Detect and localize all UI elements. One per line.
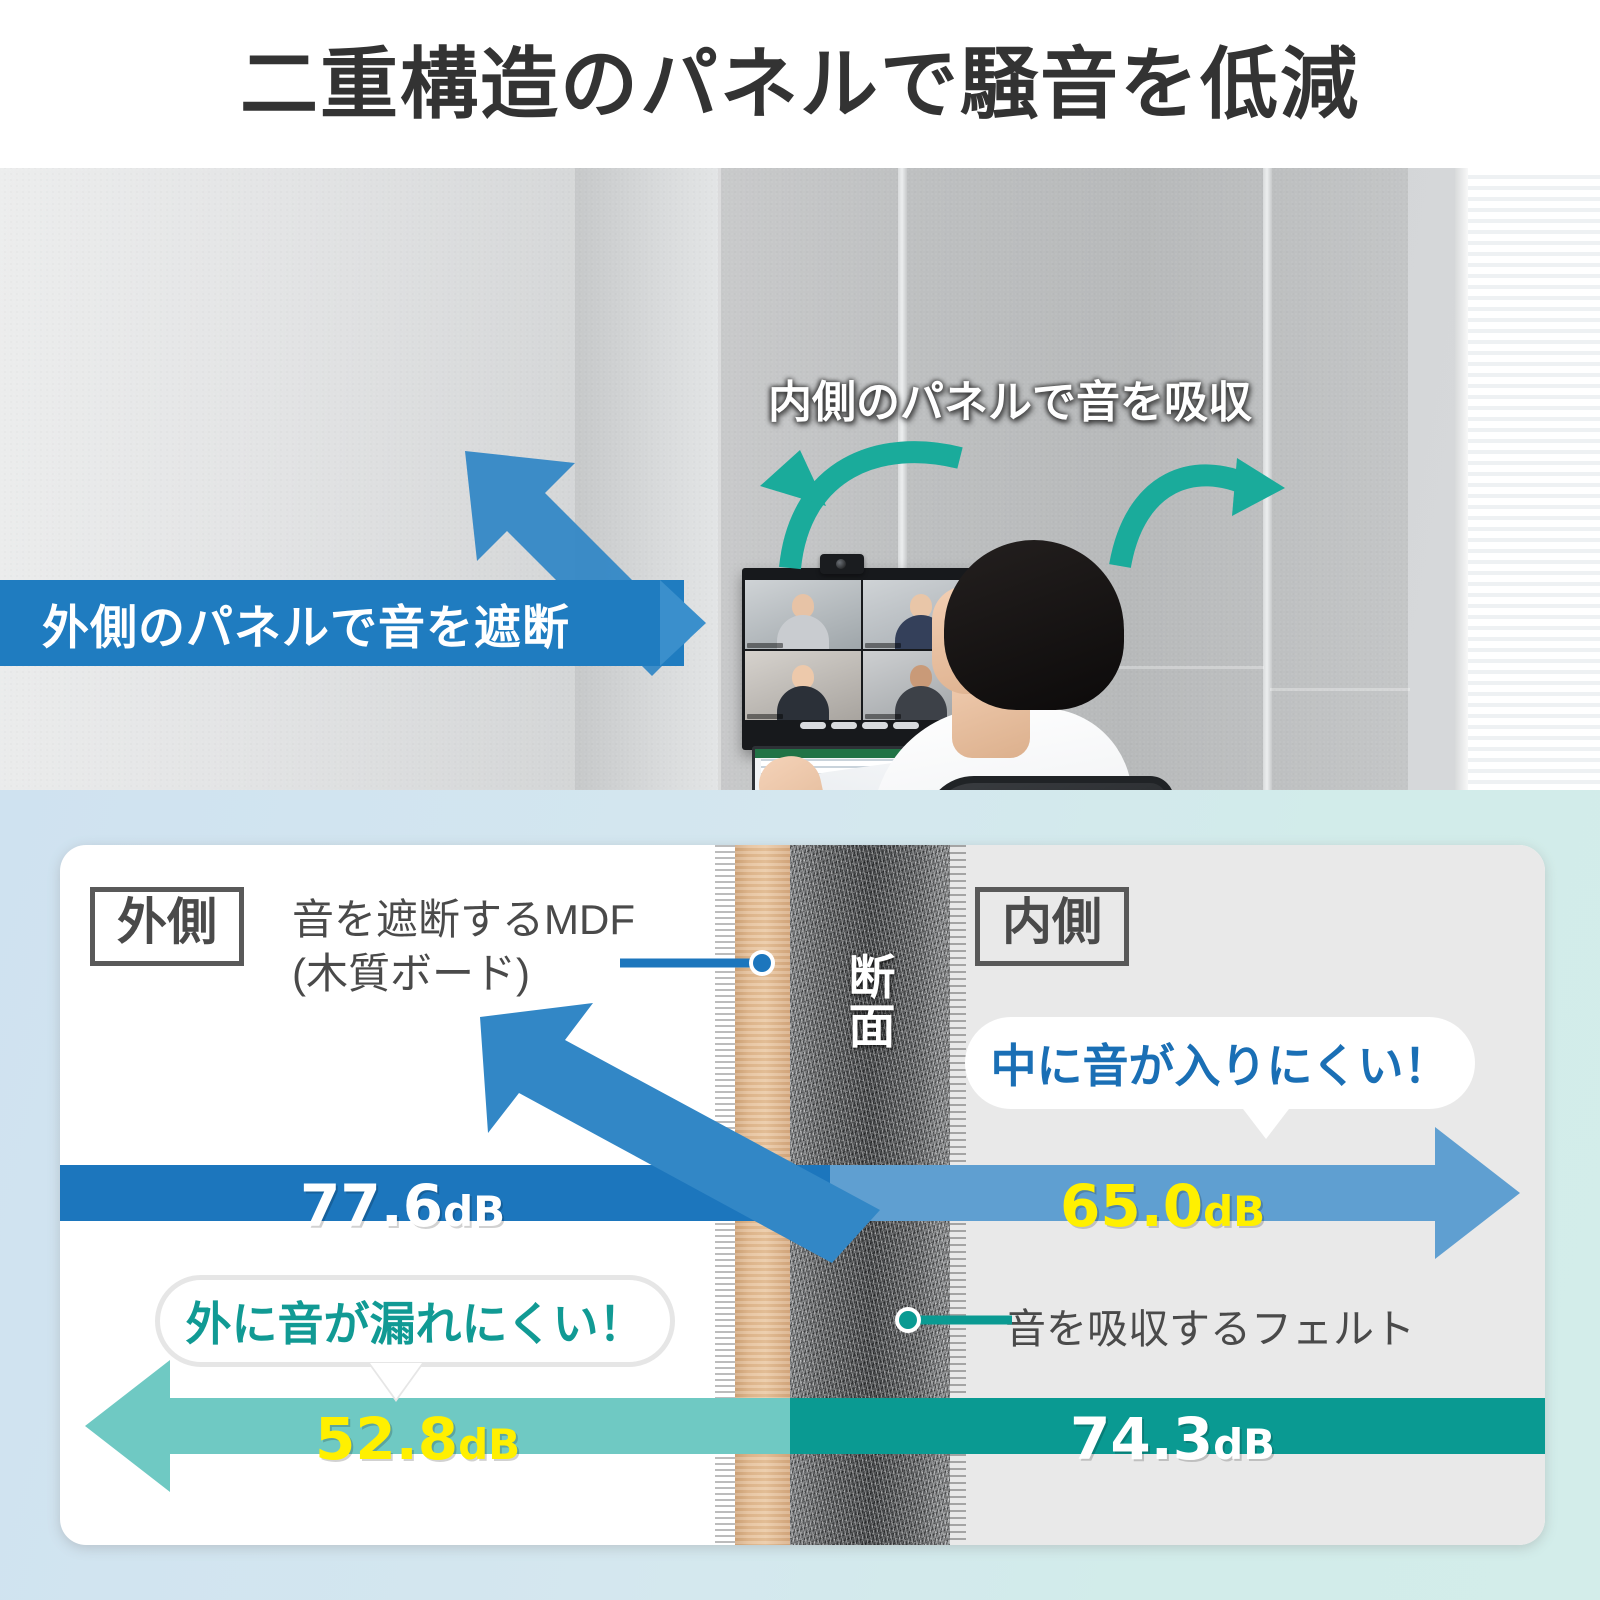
inner-benefit-bubble: 中に音が入りにくい！	[965, 1017, 1475, 1109]
inner-benefit-bubble-tail	[1240, 1105, 1292, 1139]
value-inner-received: 65.0dB	[1060, 1172, 1265, 1240]
inner-side-label: 内側	[975, 887, 1129, 966]
value-inner-source: 74.3dB	[1070, 1405, 1275, 1473]
inner-panel-caption: 内側のパネルで音を吸収	[768, 366, 1252, 430]
infographic-page: 二重構造のパネルで騒音を低減	[0, 0, 1600, 1600]
value-outer-leaked: 52.8dB	[315, 1405, 520, 1473]
header-bar: 二重構造のパネルで騒音を低減	[0, 0, 1600, 168]
felt-label: 音を吸収するフェルト	[1005, 1295, 1415, 1355]
felt-leader-line	[890, 1307, 1020, 1333]
outer-panel-banner-label: 外側のパネルで音を遮断	[42, 589, 570, 658]
outer-benefit-bubble-tail	[370, 1363, 422, 1399]
mdf-label-line1: 音を遮断するMDF	[292, 893, 635, 947]
mdf-leader-line	[60, 950, 800, 976]
outer-benefit-bubble: 外に音が漏れにくい！	[155, 1275, 675, 1367]
value-outer-blocked: 77.6dB	[300, 1172, 505, 1240]
banner-tail	[660, 580, 706, 666]
mdf-label: 音を遮断するMDF (木質ボード)	[292, 893, 635, 1001]
photo-section: 外側のパネルで音を遮断 内側のパネルで音を吸収	[0, 168, 1600, 790]
diagram-section: 断面 77.6dB 65.0dB 52.8dB	[0, 790, 1600, 1600]
sound-block-arrow	[0, 168, 1600, 790]
cross-section-card: 断面 77.6dB 65.0dB 52.8dB	[60, 845, 1545, 1545]
page-title: 二重構造のパネルで騒音を低減	[240, 45, 1360, 123]
outer-panel-banner: 外側のパネルで音を遮断	[0, 580, 684, 666]
